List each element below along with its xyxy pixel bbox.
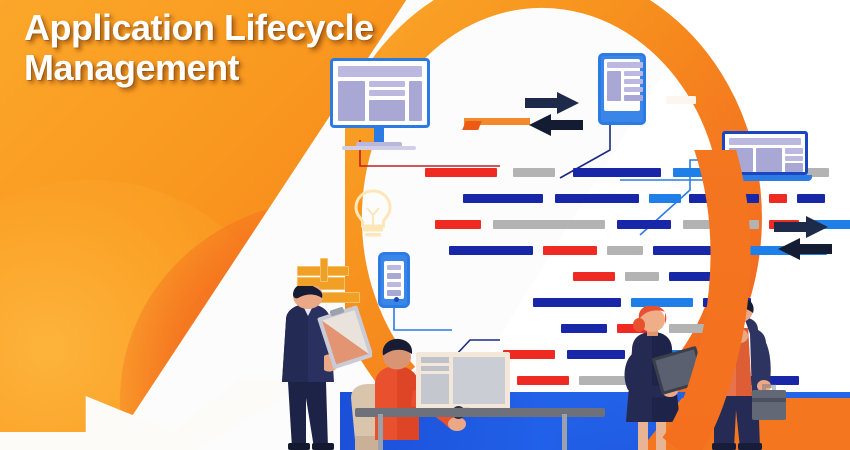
- arc-dash-marker: [666, 96, 696, 104]
- code-bar: [435, 220, 481, 229]
- code-bar: [425, 168, 497, 177]
- code-bar: [517, 376, 569, 385]
- illustration-banner: Application Lifecycle Management: [0, 0, 850, 450]
- lifecycle-ring-foreground: [600, 150, 780, 450]
- code-bar: [503, 350, 555, 359]
- code-bar: [543, 246, 597, 255]
- code-bar: [493, 220, 605, 229]
- code-bar: [449, 246, 533, 255]
- desk-surface: [355, 408, 605, 417]
- desk-leg-left: [378, 414, 383, 450]
- monitor-base-shadow: [342, 146, 416, 150]
- code-bar: [797, 194, 825, 203]
- exchange-arrows-icon-center: [523, 92, 585, 138]
- desk-leg-right: [562, 414, 567, 450]
- smartphone-icon: [378, 252, 410, 308]
- developer-monitor: [416, 352, 510, 414]
- code-bar: [463, 194, 543, 203]
- exchange-arrows-icon-right: [772, 216, 834, 262]
- page-title: Application Lifecycle Management: [24, 8, 444, 89]
- code-bar: [513, 168, 555, 177]
- sticky-note-3: [320, 258, 328, 282]
- tablet-icon: [598, 53, 646, 125]
- lightbulb-icon: [352, 188, 394, 238]
